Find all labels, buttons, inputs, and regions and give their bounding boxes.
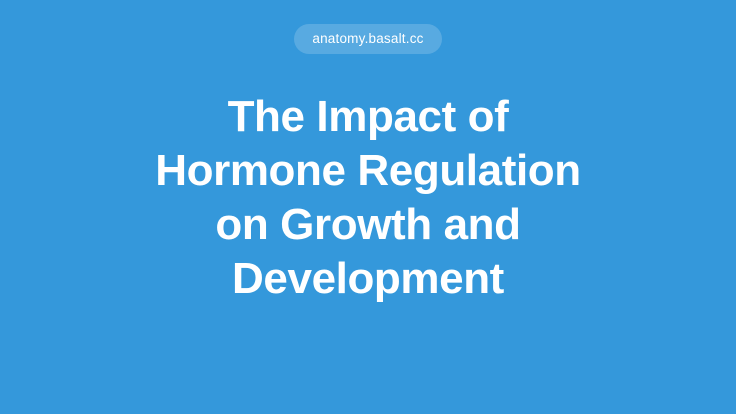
title-line-1: The Impact of: [48, 90, 688, 144]
title-line-3: on Growth and: [48, 198, 688, 252]
title-line-4: Development: [48, 252, 688, 306]
domain-badge[interactable]: anatomy.basalt.cc: [294, 24, 441, 54]
poster-canvas: anatomy.basalt.cc The Impact of Hormone …: [0, 0, 736, 414]
title-line-2: Hormone Regulation: [48, 144, 688, 198]
page-title: The Impact of Hormone Regulation on Grow…: [48, 90, 688, 306]
